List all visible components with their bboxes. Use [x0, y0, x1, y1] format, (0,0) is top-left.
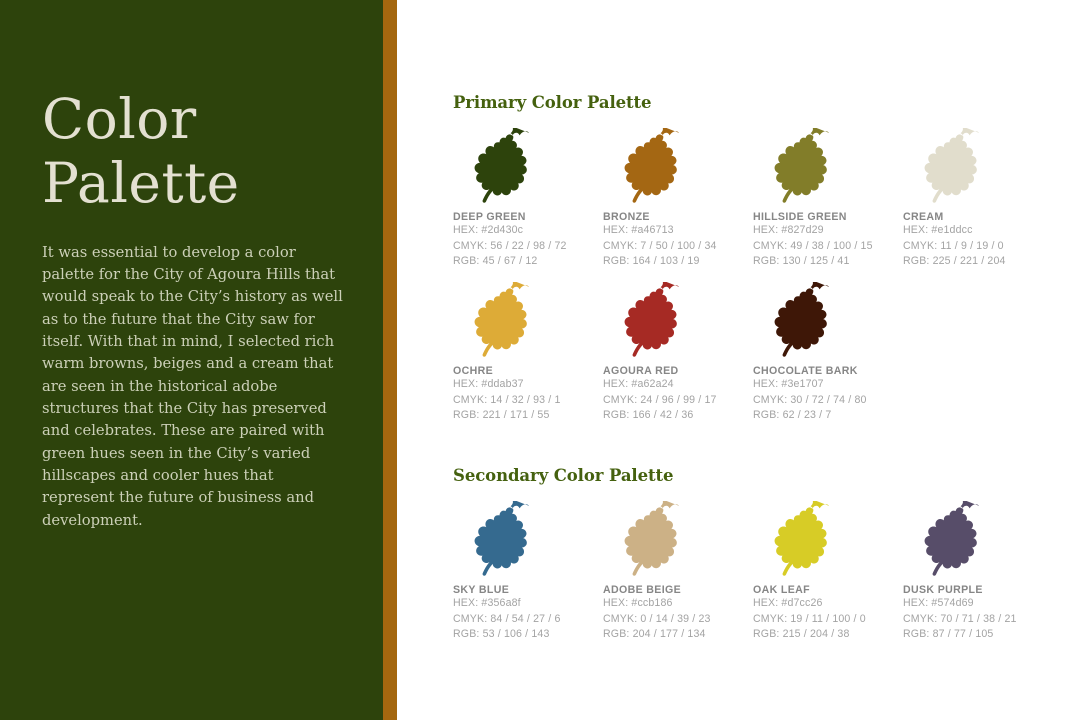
- primary-palette-heading: Primary Color Palette: [453, 93, 1080, 112]
- swatch-name: CREAM: [903, 211, 1053, 223]
- palette-content: Primary Color Palette DEEP GREENHEX: #2d…: [397, 0, 1080, 720]
- swatch-cmyk: CMYK: 56 / 22 / 98 / 72: [453, 239, 603, 255]
- swatch-hex: HEX: #356a8f: [453, 596, 603, 612]
- swatch-name: SKY BLUE: [453, 584, 603, 596]
- swatch-hex: HEX: #ddab37: [453, 377, 603, 393]
- primary-swatch-6[interactable]: CHOCOLATE BARKHEX: #3e1707CMYK: 30 / 72 …: [753, 282, 903, 424]
- secondary-swatch-2[interactable]: OAK LEAFHEX: #d7cc26CMYK: 19 / 11 / 100 …: [753, 501, 903, 643]
- swatch-cmyk: CMYK: 7 / 50 / 100 / 34: [603, 239, 753, 255]
- swatch-rgb: RGB: 45 / 67 / 12: [453, 254, 603, 270]
- swatch-rgb: RGB: 164 / 103 / 19: [603, 254, 753, 270]
- oak-leaf-icon: [903, 128, 995, 206]
- swatch-rgb: RGB: 166 / 42 / 36: [603, 408, 753, 424]
- page-title: Color Palette: [42, 87, 343, 216]
- swatch-rgb: RGB: 87 / 77 / 105: [903, 627, 1053, 643]
- oak-leaf-icon: [603, 501, 695, 579]
- swatch-cmyk: CMYK: 0 / 14 / 39 / 23: [603, 612, 753, 628]
- swatch-rgb: RGB: 215 / 204 / 38: [753, 627, 903, 643]
- swatch-hex: HEX: #a46713: [603, 223, 753, 239]
- swatch-cmyk: CMYK: 70 / 71 / 38 / 21: [903, 612, 1053, 628]
- primary-swatch-3[interactable]: CREAMHEX: #e1ddccCMYK: 11 / 9 / 19 / 0RG…: [903, 128, 1053, 270]
- primary-swatch-4[interactable]: OCHREHEX: #ddab37CMYK: 14 / 32 / 93 / 1R…: [453, 282, 603, 424]
- swatch-hex: HEX: #d7cc26: [753, 596, 903, 612]
- oak-leaf-icon: [453, 128, 545, 206]
- swatch-name: CHOCOLATE BARK: [753, 365, 903, 377]
- swatch-hex: HEX: #827d29: [753, 223, 903, 239]
- swatch-name: BRONZE: [603, 211, 753, 223]
- secondary-swatch-0[interactable]: SKY BLUEHEX: #356a8fCMYK: 84 / 54 / 27 /…: [453, 501, 603, 643]
- oak-leaf-icon: [903, 501, 995, 579]
- swatch-name: OAK LEAF: [753, 584, 903, 596]
- swatch-hex: HEX: #a62a24: [603, 377, 753, 393]
- oak-leaf-icon: [753, 128, 845, 206]
- swatch-rgb: RGB: 62 / 23 / 7: [753, 408, 903, 424]
- secondary-swatch-3[interactable]: DUSK PURPLEHEX: #574d69CMYK: 70 / 71 / 3…: [903, 501, 1053, 643]
- secondary-swatch-1[interactable]: ADOBE BEIGEHEX: #ccb186CMYK: 0 / 14 / 39…: [603, 501, 753, 643]
- swatch-hex: HEX: #574d69: [903, 596, 1053, 612]
- oak-leaf-icon: [603, 282, 695, 360]
- primary-palette-grid: DEEP GREENHEX: #2d430cCMYK: 56 / 22 / 98…: [453, 128, 1073, 436]
- color-palette-page: Color Palette It was essential to develo…: [0, 0, 1080, 720]
- sidebar-description: It was essential to develop a color pale…: [42, 242, 347, 532]
- swatch-rgb: RGB: 53 / 106 / 143: [453, 627, 603, 643]
- swatch-hex: HEX: #3e1707: [753, 377, 903, 393]
- oak-leaf-icon: [453, 282, 545, 360]
- swatch-rgb: RGB: 225 / 221 / 204: [903, 254, 1053, 270]
- primary-swatch-5[interactable]: AGOURA REDHEX: #a62a24CMYK: 24 / 96 / 99…: [603, 282, 753, 424]
- page-title-line-2: Palette: [42, 151, 343, 215]
- swatch-cmyk: CMYK: 84 / 54 / 27 / 6: [453, 612, 603, 628]
- swatch-cmyk: CMYK: 24 / 96 / 99 / 17: [603, 393, 753, 409]
- swatch-name: AGOURA RED: [603, 365, 753, 377]
- swatch-hex: HEX: #e1ddcc: [903, 223, 1053, 239]
- swatch-cmyk: CMYK: 49 / 38 / 100 / 15: [753, 239, 903, 255]
- primary-swatch-2[interactable]: HILLSIDE GREENHEX: #827d29CMYK: 49 / 38 …: [753, 128, 903, 270]
- primary-swatch-0[interactable]: DEEP GREENHEX: #2d430cCMYK: 56 / 22 / 98…: [453, 128, 603, 270]
- swatch-hex: HEX: #2d430c: [453, 223, 603, 239]
- sidebar-panel: Color Palette It was essential to develo…: [0, 0, 383, 720]
- swatch-rgb: RGB: 130 / 125 / 41: [753, 254, 903, 270]
- oak-leaf-icon: [453, 501, 545, 579]
- swatch-name: DUSK PURPLE: [903, 584, 1053, 596]
- secondary-palette-grid: SKY BLUEHEX: #356a8fCMYK: 84 / 54 / 27 /…: [453, 501, 1073, 655]
- swatch-rgb: RGB: 204 / 177 / 134: [603, 627, 753, 643]
- swatch-hex: HEX: #ccb186: [603, 596, 753, 612]
- page-title-line-1: Color: [42, 87, 343, 151]
- oak-leaf-icon: [753, 282, 845, 360]
- swatch-cmyk: CMYK: 14 / 32 / 93 / 1: [453, 393, 603, 409]
- primary-swatch-1[interactable]: BRONZEHEX: #a46713CMYK: 7 / 50 / 100 / 3…: [603, 128, 753, 270]
- oak-leaf-icon: [753, 501, 845, 579]
- secondary-palette-heading: Secondary Color Palette: [453, 466, 1080, 485]
- swatch-cmyk: CMYK: 19 / 11 / 100 / 0: [753, 612, 903, 628]
- swatch-name: DEEP GREEN: [453, 211, 603, 223]
- swatch-cmyk: CMYK: 11 / 9 / 19 / 0: [903, 239, 1053, 255]
- swatch-rgb: RGB: 221 / 171 / 55: [453, 408, 603, 424]
- swatch-name: OCHRE: [453, 365, 603, 377]
- swatch-name: ADOBE BEIGE: [603, 584, 753, 596]
- swatch-cmyk: CMYK: 30 / 72 / 74 / 80: [753, 393, 903, 409]
- swatch-name: HILLSIDE GREEN: [753, 211, 903, 223]
- oak-leaf-icon: [603, 128, 695, 206]
- accent-stripe: [383, 0, 397, 720]
